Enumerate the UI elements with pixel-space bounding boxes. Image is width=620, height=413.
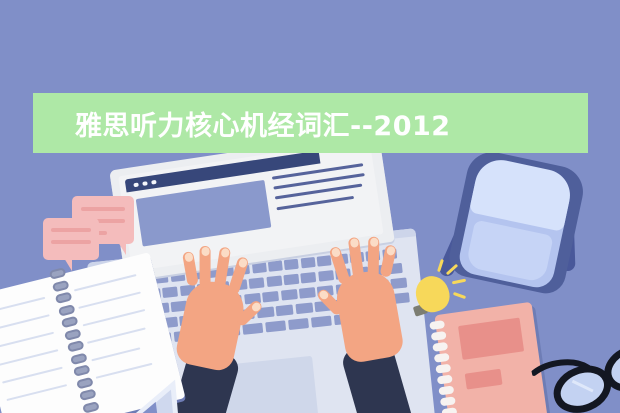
finger xyxy=(368,237,380,279)
eyeglasses xyxy=(530,342,620,413)
fingernail xyxy=(386,245,396,255)
notebook-rule-line xyxy=(0,349,58,366)
notepad-label-large xyxy=(458,318,524,360)
eyeglasses-shape xyxy=(530,342,620,413)
notebook-rule-line xyxy=(2,367,63,384)
spiral-coil xyxy=(49,267,67,280)
fingernail xyxy=(237,257,247,268)
lightbulb-ray xyxy=(446,264,458,276)
fingernail xyxy=(184,252,193,262)
keyboard-key xyxy=(276,304,294,316)
spiral-coil xyxy=(64,328,82,341)
keyboard-key xyxy=(311,316,332,328)
spiral-coil xyxy=(67,340,85,353)
window-dot-icon xyxy=(133,182,138,187)
keyboard-key xyxy=(283,274,299,286)
spiral-coil xyxy=(435,364,451,374)
spiral-coil xyxy=(438,385,454,395)
window-dot-icon xyxy=(151,179,156,184)
keyboard-key xyxy=(295,302,313,314)
spiral-coil xyxy=(440,396,456,406)
title-banner: 雅思听力核心机经词汇--2012 xyxy=(33,93,588,153)
spiral-coil xyxy=(429,320,445,330)
notebook-rule-line xyxy=(78,291,141,308)
keyboard-key xyxy=(300,257,315,268)
fingernail xyxy=(330,247,340,258)
keyboard-key xyxy=(317,255,332,266)
window-dot-icon xyxy=(142,181,147,186)
keyboard-key xyxy=(268,260,283,271)
notebook-rule-line xyxy=(0,314,50,331)
bubble-text-line xyxy=(51,228,91,232)
spiral-coil xyxy=(52,279,70,292)
keyboard-key xyxy=(162,286,178,298)
spiral-coil xyxy=(61,316,79,329)
notebook-rule-line xyxy=(87,327,146,343)
keyboard-key xyxy=(284,259,299,270)
keyboard-key xyxy=(265,320,286,332)
screen-text-line xyxy=(276,196,354,210)
bubble-text-line xyxy=(51,240,91,244)
lightbulb-ray xyxy=(452,279,466,285)
keyboard-key xyxy=(262,291,279,303)
bubble-tail xyxy=(118,242,126,255)
bubble-tail xyxy=(64,258,72,271)
notebook-rule-line xyxy=(83,309,146,326)
bubble-text-line xyxy=(81,207,125,211)
notebook-rule-line xyxy=(0,332,54,349)
fingernail xyxy=(370,238,378,247)
spiral-coil xyxy=(437,375,453,385)
speech-bubble-front xyxy=(43,218,99,260)
spiral-coil xyxy=(55,291,73,304)
finger xyxy=(200,246,211,288)
page-title: 雅思听力核心机经词汇--2012 xyxy=(33,104,451,143)
keyboard-key xyxy=(301,272,317,284)
notebook-rule-line xyxy=(91,347,140,361)
notepad-label-small xyxy=(465,369,503,390)
illustration-canvas: 雅思听力核心机经词汇--2012 xyxy=(0,0,620,413)
lightbulb-ray xyxy=(453,292,466,299)
spiral-coil xyxy=(432,342,448,352)
keyboard-key xyxy=(288,318,309,330)
keyboard-key xyxy=(299,287,316,299)
spiral-coil xyxy=(58,304,76,317)
spiral-coil xyxy=(434,353,450,363)
fingernail xyxy=(201,247,209,256)
notebook-rule-line xyxy=(74,274,137,291)
keyboard-key xyxy=(249,277,265,289)
spiral-coil xyxy=(70,352,88,365)
screen-content-block xyxy=(136,180,272,247)
keyboard-key xyxy=(242,323,263,335)
notebook-rule-line xyxy=(0,297,45,314)
keyboard-key xyxy=(281,289,298,301)
spiral-coil xyxy=(441,407,457,413)
fingernail xyxy=(349,238,358,248)
lightbulb-ray xyxy=(437,259,444,272)
fingernail xyxy=(318,289,330,301)
keyboard-key xyxy=(252,262,267,273)
keyboard-key xyxy=(266,276,282,288)
keyboard-key xyxy=(318,270,334,282)
spiral-coil xyxy=(431,331,447,341)
spiral-coil xyxy=(73,364,91,377)
notepad-spiral-binding xyxy=(429,320,458,413)
pink-notepad xyxy=(434,302,547,413)
fingernail xyxy=(220,248,229,258)
